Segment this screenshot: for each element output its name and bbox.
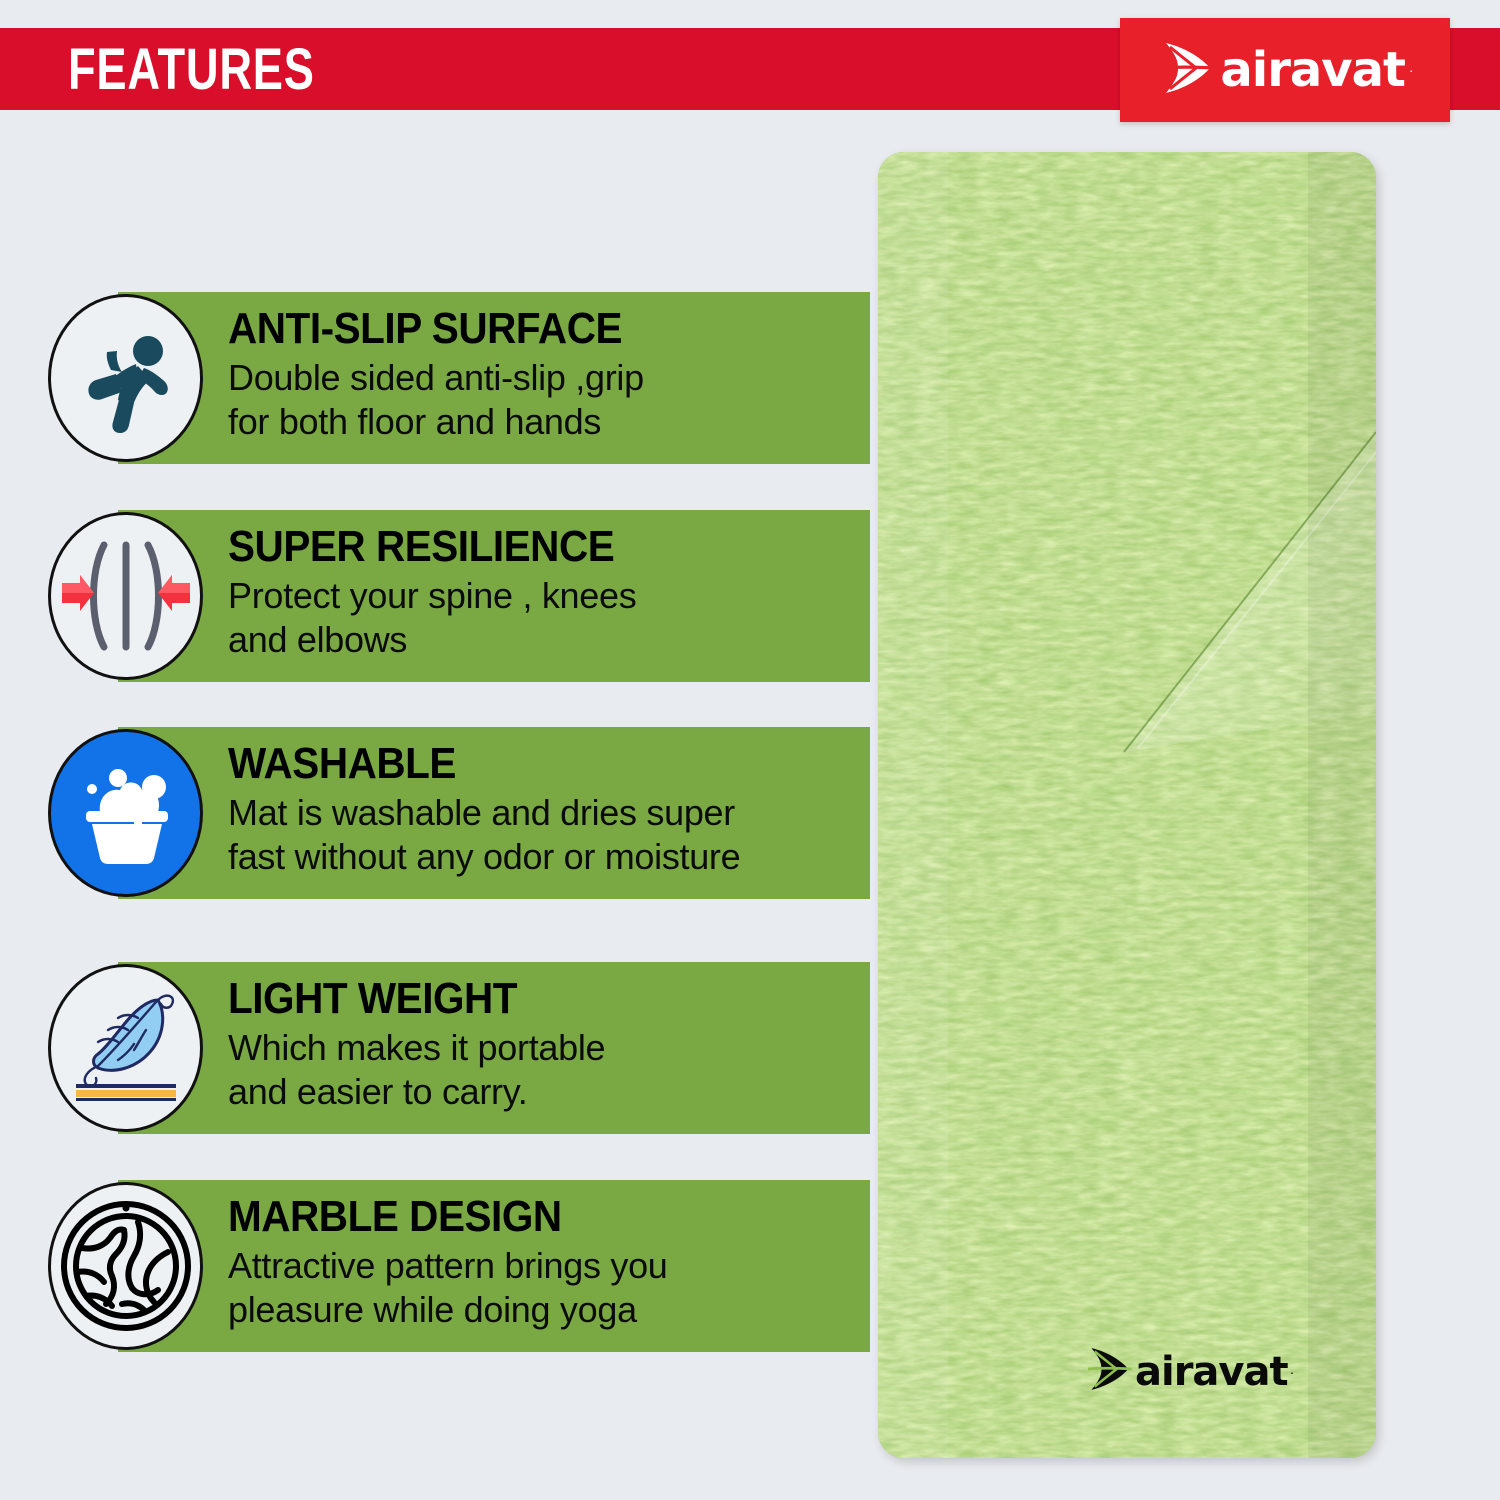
trademark-mark: · <box>1290 1364 1295 1380</box>
feature-desc-line: Which makes it portable <box>228 1026 868 1070</box>
feature-description: Mat is washable and dries super fast wit… <box>228 791 868 879</box>
feature-desc-line: fast without any odor or moisture <box>228 835 868 879</box>
feature-desc-line: Mat is washable and dries super <box>228 791 868 835</box>
feature-desc-line: for both floor and hands <box>228 400 868 444</box>
feature-list: ANTI-SLIP SURFACE Double sided anti-slip… <box>0 0 880 1500</box>
feature-title: MARBLE DESIGN <box>228 1190 817 1244</box>
feather-icon <box>48 964 203 1132</box>
feature-title: ANTI-SLIP SURFACE <box>228 302 817 356</box>
feature-description: Attractive pattern brings you pleasure w… <box>228 1244 868 1332</box>
feature-item-anti-slip: ANTI-SLIP SURFACE Double sided anti-slip… <box>0 292 870 464</box>
feature-description: Which makes it portable and easier to ca… <box>228 1026 868 1114</box>
feature-text: MARBLE DESIGN Attractive pattern brings … <box>228 1190 868 1332</box>
feature-desc-line: and elbows <box>228 618 868 662</box>
feature-title: WASHABLE <box>228 737 817 791</box>
feature-title: SUPER RESILIENCE <box>228 520 817 574</box>
mat-brand-logo: airavat · <box>1083 1343 1294 1400</box>
feature-item-light-weight: LIGHT WEIGHT Which makes it portable and… <box>0 962 870 1134</box>
feature-description: Double sided anti-slip ,grip for both fl… <box>228 356 868 444</box>
feature-desc-line: and easier to carry. <box>228 1070 868 1114</box>
airavat-bow-mark-icon <box>1083 1343 1135 1400</box>
feature-text: LIGHT WEIGHT Which makes it portable and… <box>228 972 868 1114</box>
marble-circle-icon <box>48 1182 203 1350</box>
feature-title: LIGHT WEIGHT <box>228 972 817 1026</box>
mat-brand-text: airavat <box>1135 1349 1288 1395</box>
wash-basin-icon <box>48 729 203 897</box>
mat-marble-texture <box>878 152 1376 1458</box>
airavat-bow-mark-icon <box>1156 37 1218 104</box>
brand-logo: airavat · <box>1120 18 1450 122</box>
product-image-yoga-mat: airavat · <box>878 152 1376 1458</box>
feature-desc-line: Attractive pattern brings you <box>228 1244 868 1288</box>
feature-text: WASHABLE Mat is washable and dries super… <box>228 737 868 879</box>
feature-description: Protect your spine , knees and elbows <box>228 574 868 662</box>
brand-logo-text: airavat <box>1220 42 1405 98</box>
feature-text: SUPER RESILIENCE Protect your spine , kn… <box>228 520 868 662</box>
feature-desc-line: pleasure while doing yoga <box>228 1288 868 1332</box>
feature-item-super-resilience: SUPER RESILIENCE Protect your spine , kn… <box>0 510 870 682</box>
feature-desc-line: Protect your spine , knees <box>228 574 868 618</box>
compression-spine-icon <box>48 512 203 680</box>
feature-text: ANTI-SLIP SURFACE Double sided anti-slip… <box>228 302 868 444</box>
trademark-mark: · <box>1409 62 1414 78</box>
feature-item-washable: WASHABLE Mat is washable and dries super… <box>0 727 870 899</box>
slip-person-icon <box>48 294 203 462</box>
feature-desc-line: Double sided anti-slip ,grip <box>228 356 868 400</box>
infographic-page: FEATURES airavat · <box>0 0 1500 1500</box>
feature-item-marble-design: MARBLE DESIGN Attractive pattern brings … <box>0 1180 870 1352</box>
